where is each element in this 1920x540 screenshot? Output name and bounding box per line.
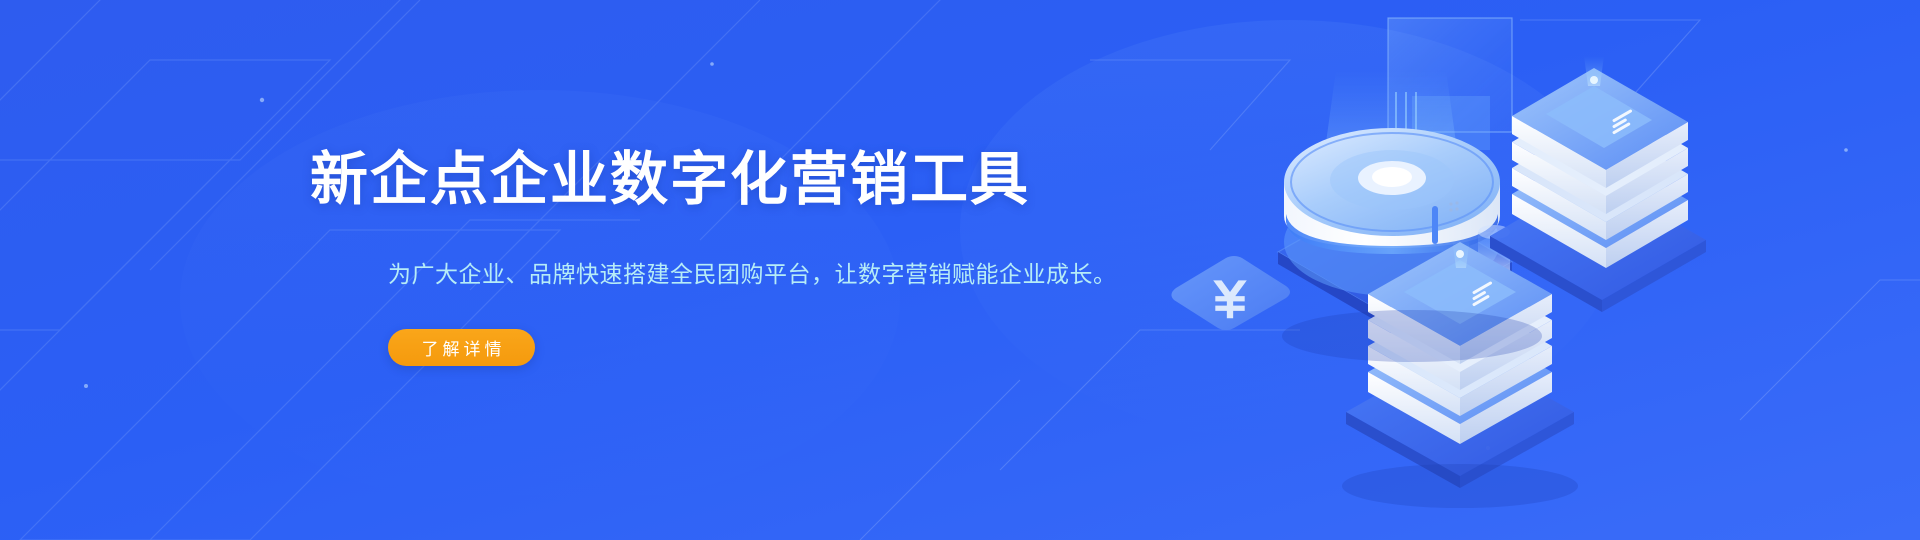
hero-banner: 新企点企业数字化营销工具 为广大企业、品牌快速搭建全民团购平台，让数字营销赋能企… — [0, 0, 1920, 540]
learn-more-button[interactable]: 了解详情 — [388, 329, 535, 366]
banner-title: 新企点企业数字化营销工具 — [310, 148, 1030, 212]
banner-text-block: 新企点企业数字化营销工具 为广大企业、品牌快速搭建全民团购平台，让数字营销赋能企… — [0, 0, 1100, 540]
yen-coin-badge — [1171, 256, 1290, 330]
banner-subtitle: 为广大企业、品牌快速搭建全民团购平台，让数字营销赋能企业成长。 — [388, 258, 1117, 290]
isometric-cloud-illustration — [1160, 0, 1920, 540]
server-stack-upper-right — [1490, 56, 1706, 312]
